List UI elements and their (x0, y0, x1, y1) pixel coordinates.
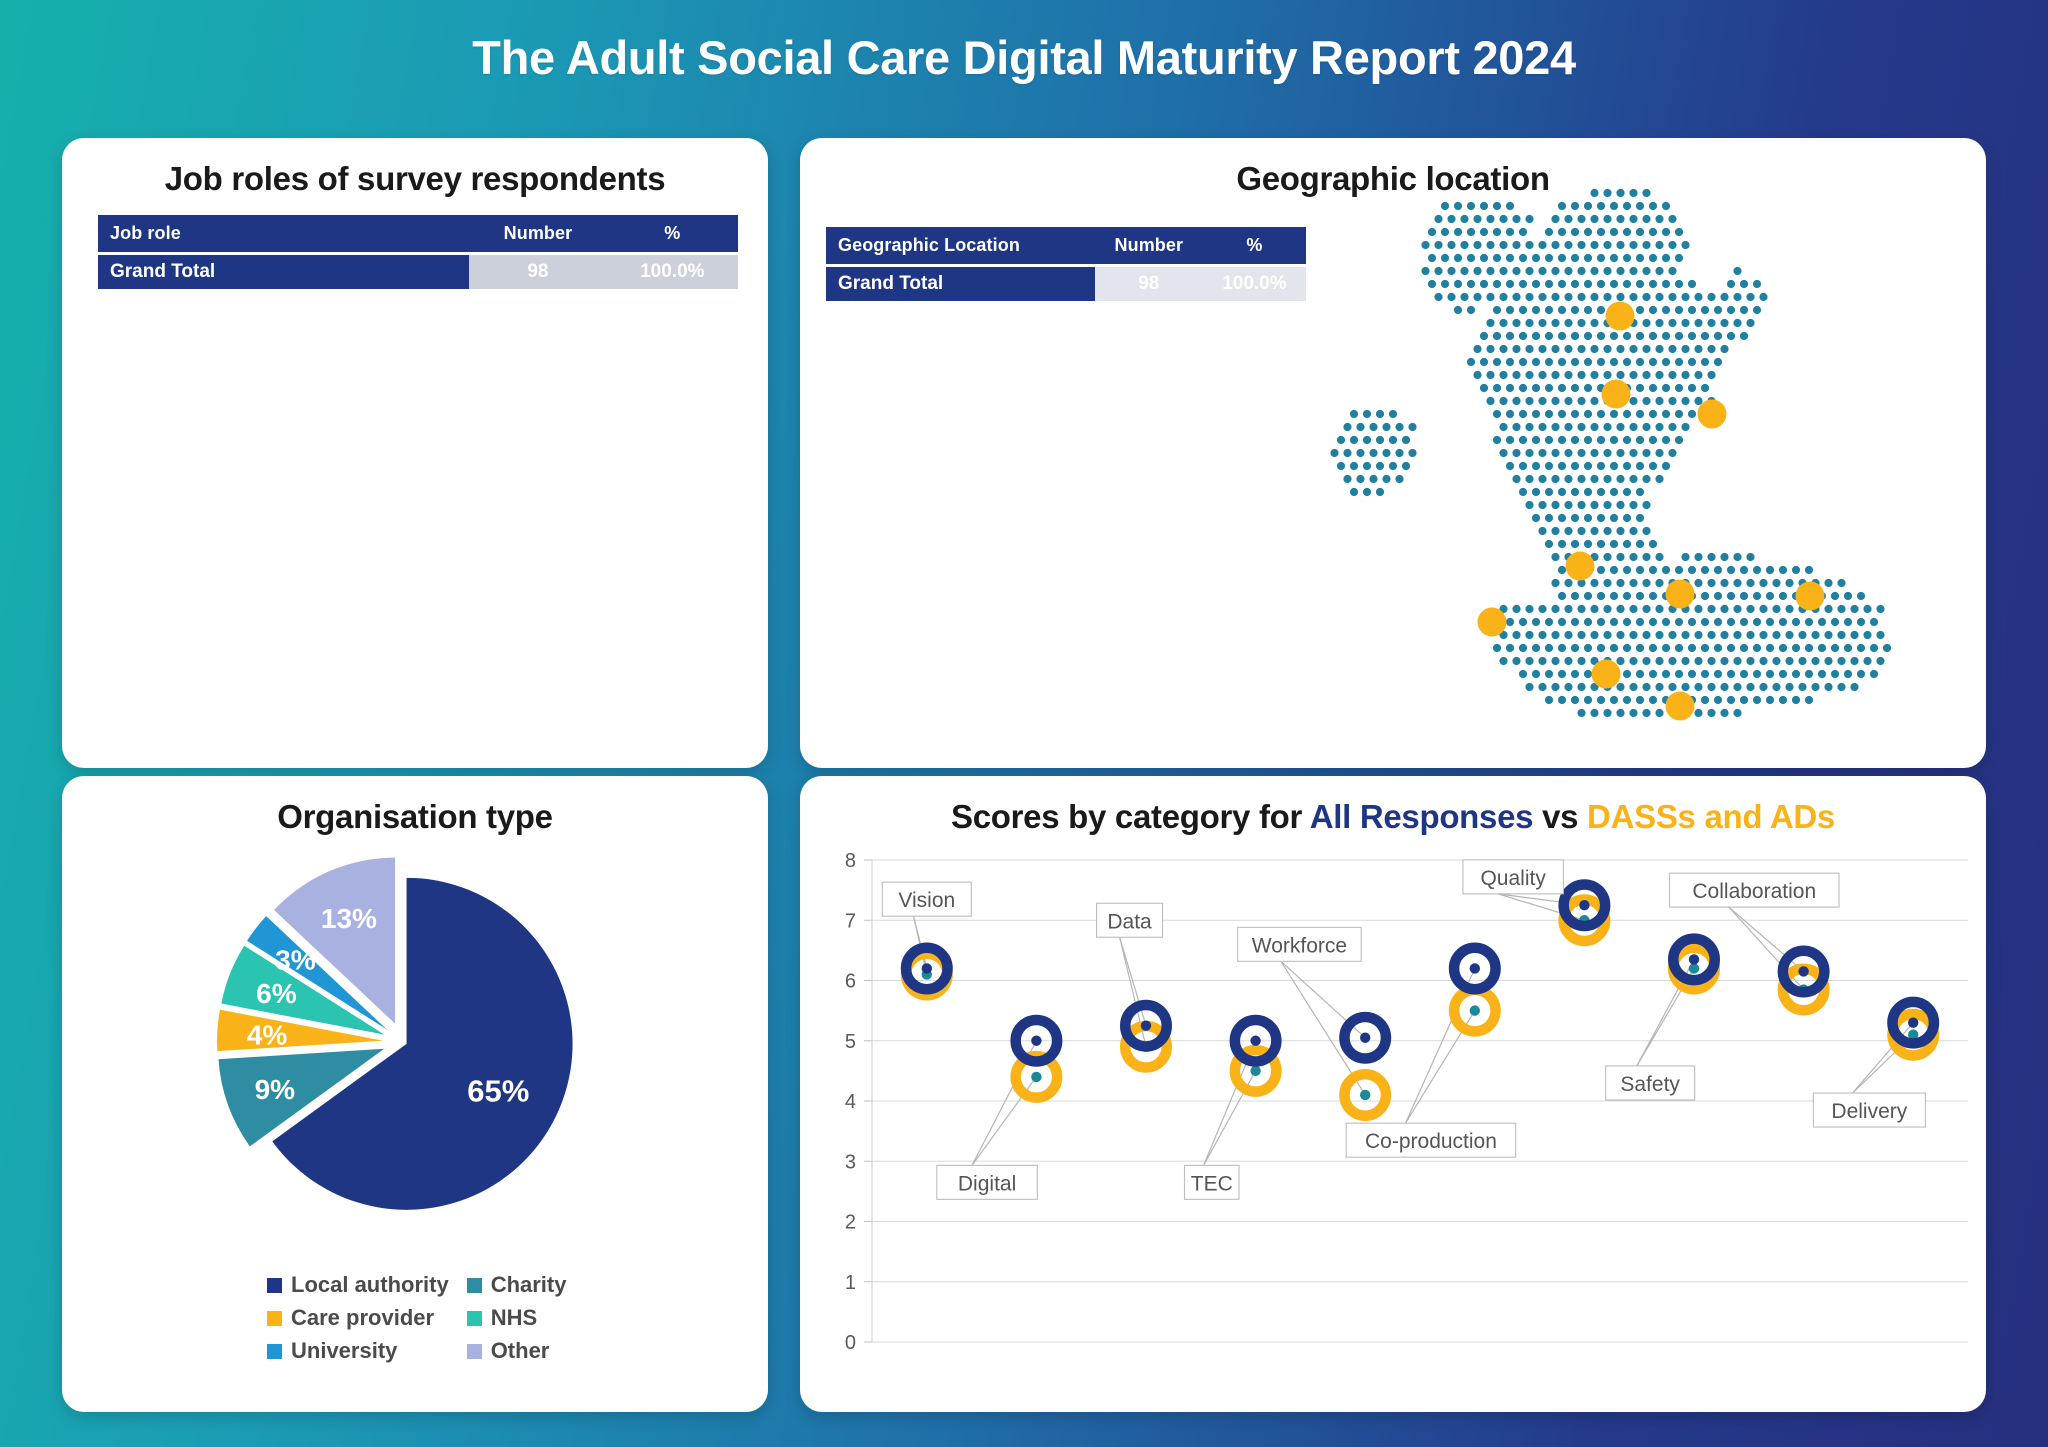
legend-swatch (467, 1344, 482, 1359)
scatter-marker-dasss-ads (1344, 1074, 1386, 1116)
scores-title-dasss: DASSs and ADs (1587, 798, 1835, 835)
legend-label: University (291, 1338, 397, 1364)
pie-slice-label: 9% (255, 1074, 296, 1105)
category-callout: Delivery (1813, 1093, 1925, 1127)
legend-item[interactable]: NHS (467, 1305, 597, 1331)
y-axis-tick: 5 (845, 1031, 856, 1053)
total-lbl: Grand Total (98, 255, 469, 289)
pie-legend: Local authorityCharityCare providerNHSUn… (267, 1272, 597, 1364)
legend-item[interactable]: University (267, 1338, 449, 1364)
scores-title-part-1: Scores by category for (951, 798, 1310, 835)
category-callout: TEC (1185, 1165, 1240, 1199)
geographic-body: East England33.1%Isle of Wight33.1%North… (826, 267, 1306, 301)
legend-label: NHS (491, 1305, 537, 1331)
total-pct: 100.0% (1203, 267, 1306, 301)
geographic-table: Geographic Location Number % East Englan… (826, 224, 1306, 304)
legend-label: Care provider (291, 1305, 434, 1331)
legend-swatch (467, 1278, 482, 1293)
category-callout-label: Collaboration (1692, 880, 1816, 903)
legend-item[interactable]: Care provider (267, 1305, 449, 1331)
category-callout: Co-production (1346, 1123, 1516, 1157)
scores-scatter-plot: 012345678VisionDigitalDataTECWorkforceCo… (800, 842, 1986, 1402)
legend-swatch (467, 1311, 482, 1326)
col-job-role: Job role (98, 215, 469, 252)
organisation-title: Organisation type (62, 776, 768, 836)
table-header-row: Job role Number % (98, 215, 738, 252)
category-callout-label: TEC (1191, 1172, 1233, 1195)
col-geo-location: Geographic Location (826, 227, 1095, 264)
total-lbl: Grand Total (826, 267, 1095, 301)
callout-leader-line (1729, 907, 1804, 971)
card-scores: Scores by category for All Responses vs … (800, 776, 1986, 1412)
y-axis-tick: 7 (845, 910, 856, 932)
legend-item[interactable]: Charity (467, 1272, 597, 1298)
y-axis-tick: 1 (845, 1272, 856, 1294)
col-percent: % (1203, 227, 1306, 264)
category-callout: Quality (1463, 860, 1564, 894)
scatter-marker-dasss-ads (1454, 990, 1496, 1032)
legend-item[interactable]: Local authority (267, 1272, 449, 1298)
category-callout: Workforce (1238, 927, 1362, 961)
job-roles-title: Job roles of survey respondents (62, 138, 768, 198)
category-callout-label: Workforce (1252, 934, 1347, 957)
y-axis-tick: 0 (845, 1332, 856, 1354)
job-roles-body: Cabinet Member66.1%Commissioner22.0%Cons… (98, 255, 738, 289)
category-callout-label: Quality (1480, 867, 1546, 890)
dashboard-grid: Job roles of survey respondents Job role… (62, 138, 1986, 1408)
pie-slice-label: 65% (467, 1074, 529, 1109)
category-callout: Data (1097, 903, 1163, 937)
total-num: 98 (469, 255, 607, 289)
pie-chart: 65%9%4%6%3%13% (62, 846, 768, 1246)
category-callout: Digital (937, 1165, 1037, 1199)
pie-slice-label: 3% (275, 945, 316, 976)
scores-title-all-responses: All Responses (1310, 798, 1534, 835)
category-callout: Safety (1606, 1066, 1695, 1100)
legend-label: Local authority (291, 1272, 449, 1298)
total-pct: 100.0% (607, 255, 738, 289)
category-callout-label: Digital (958, 1172, 1016, 1195)
scores-title-part-2: vs (1533, 798, 1587, 835)
legend-item[interactable]: Other (467, 1338, 597, 1364)
job-roles-table: Job role Number % Cabinet Member66.1%Com… (98, 212, 738, 292)
category-callout-label: Safety (1620, 1073, 1680, 1096)
y-axis-tick: 6 (845, 971, 856, 993)
y-axis-tick: 3 (845, 1151, 856, 1173)
page-title: The Adult Social Care Digital Maturity R… (0, 0, 2048, 85)
card-organisation-type: Organisation type 65%9%4%6%3%13% Local a… (62, 776, 768, 1412)
scatter-marker-all-responses (1454, 948, 1496, 990)
col-percent: % (607, 215, 738, 252)
job-roles-table-wrap: Job role Number % Cabinet Member66.1%Com… (62, 198, 768, 292)
card-geographic: Geographic location Geographic Location … (800, 138, 1986, 768)
legend-label: Other (491, 1338, 550, 1364)
legend-label: Charity (491, 1272, 567, 1298)
geographic-table-wrap: Geographic Location Number % East Englan… (826, 224, 1306, 304)
col-number: Number (469, 215, 607, 252)
scatter-marker-all-responses (1344, 1017, 1386, 1059)
pie-slice-label: 6% (256, 978, 297, 1009)
table-header-row: Geographic Location Number % (826, 227, 1306, 264)
total-num: 98 (1095, 267, 1203, 301)
category-callout: Collaboration (1670, 873, 1840, 907)
pie-slice-label: 4% (247, 1019, 288, 1050)
y-axis-tick: 2 (845, 1212, 856, 1234)
col-number: Number (1095, 227, 1203, 264)
table-total-row: Grand Total98100.0% (826, 267, 1306, 301)
table-total-row: Grand Total98100.0% (98, 255, 738, 289)
category-callout-label: Delivery (1831, 1100, 1907, 1123)
uk-dot-map (1320, 166, 1960, 746)
legend-swatch (267, 1344, 282, 1359)
card-job-roles: Job roles of survey respondents Job role… (62, 138, 768, 768)
legend-swatch (267, 1311, 282, 1326)
y-axis-tick: 8 (845, 850, 856, 872)
legend-swatch (267, 1278, 282, 1293)
category-callout: Vision (882, 882, 971, 916)
category-callout-label: Co-production (1365, 1130, 1497, 1153)
scores-title: Scores by category for All Responses vs … (800, 776, 1986, 836)
category-callout-label: Vision (898, 889, 955, 912)
pie-slice-label: 13% (321, 903, 377, 934)
category-callout-label: Data (1107, 910, 1152, 933)
y-axis-tick: 4 (845, 1091, 856, 1113)
